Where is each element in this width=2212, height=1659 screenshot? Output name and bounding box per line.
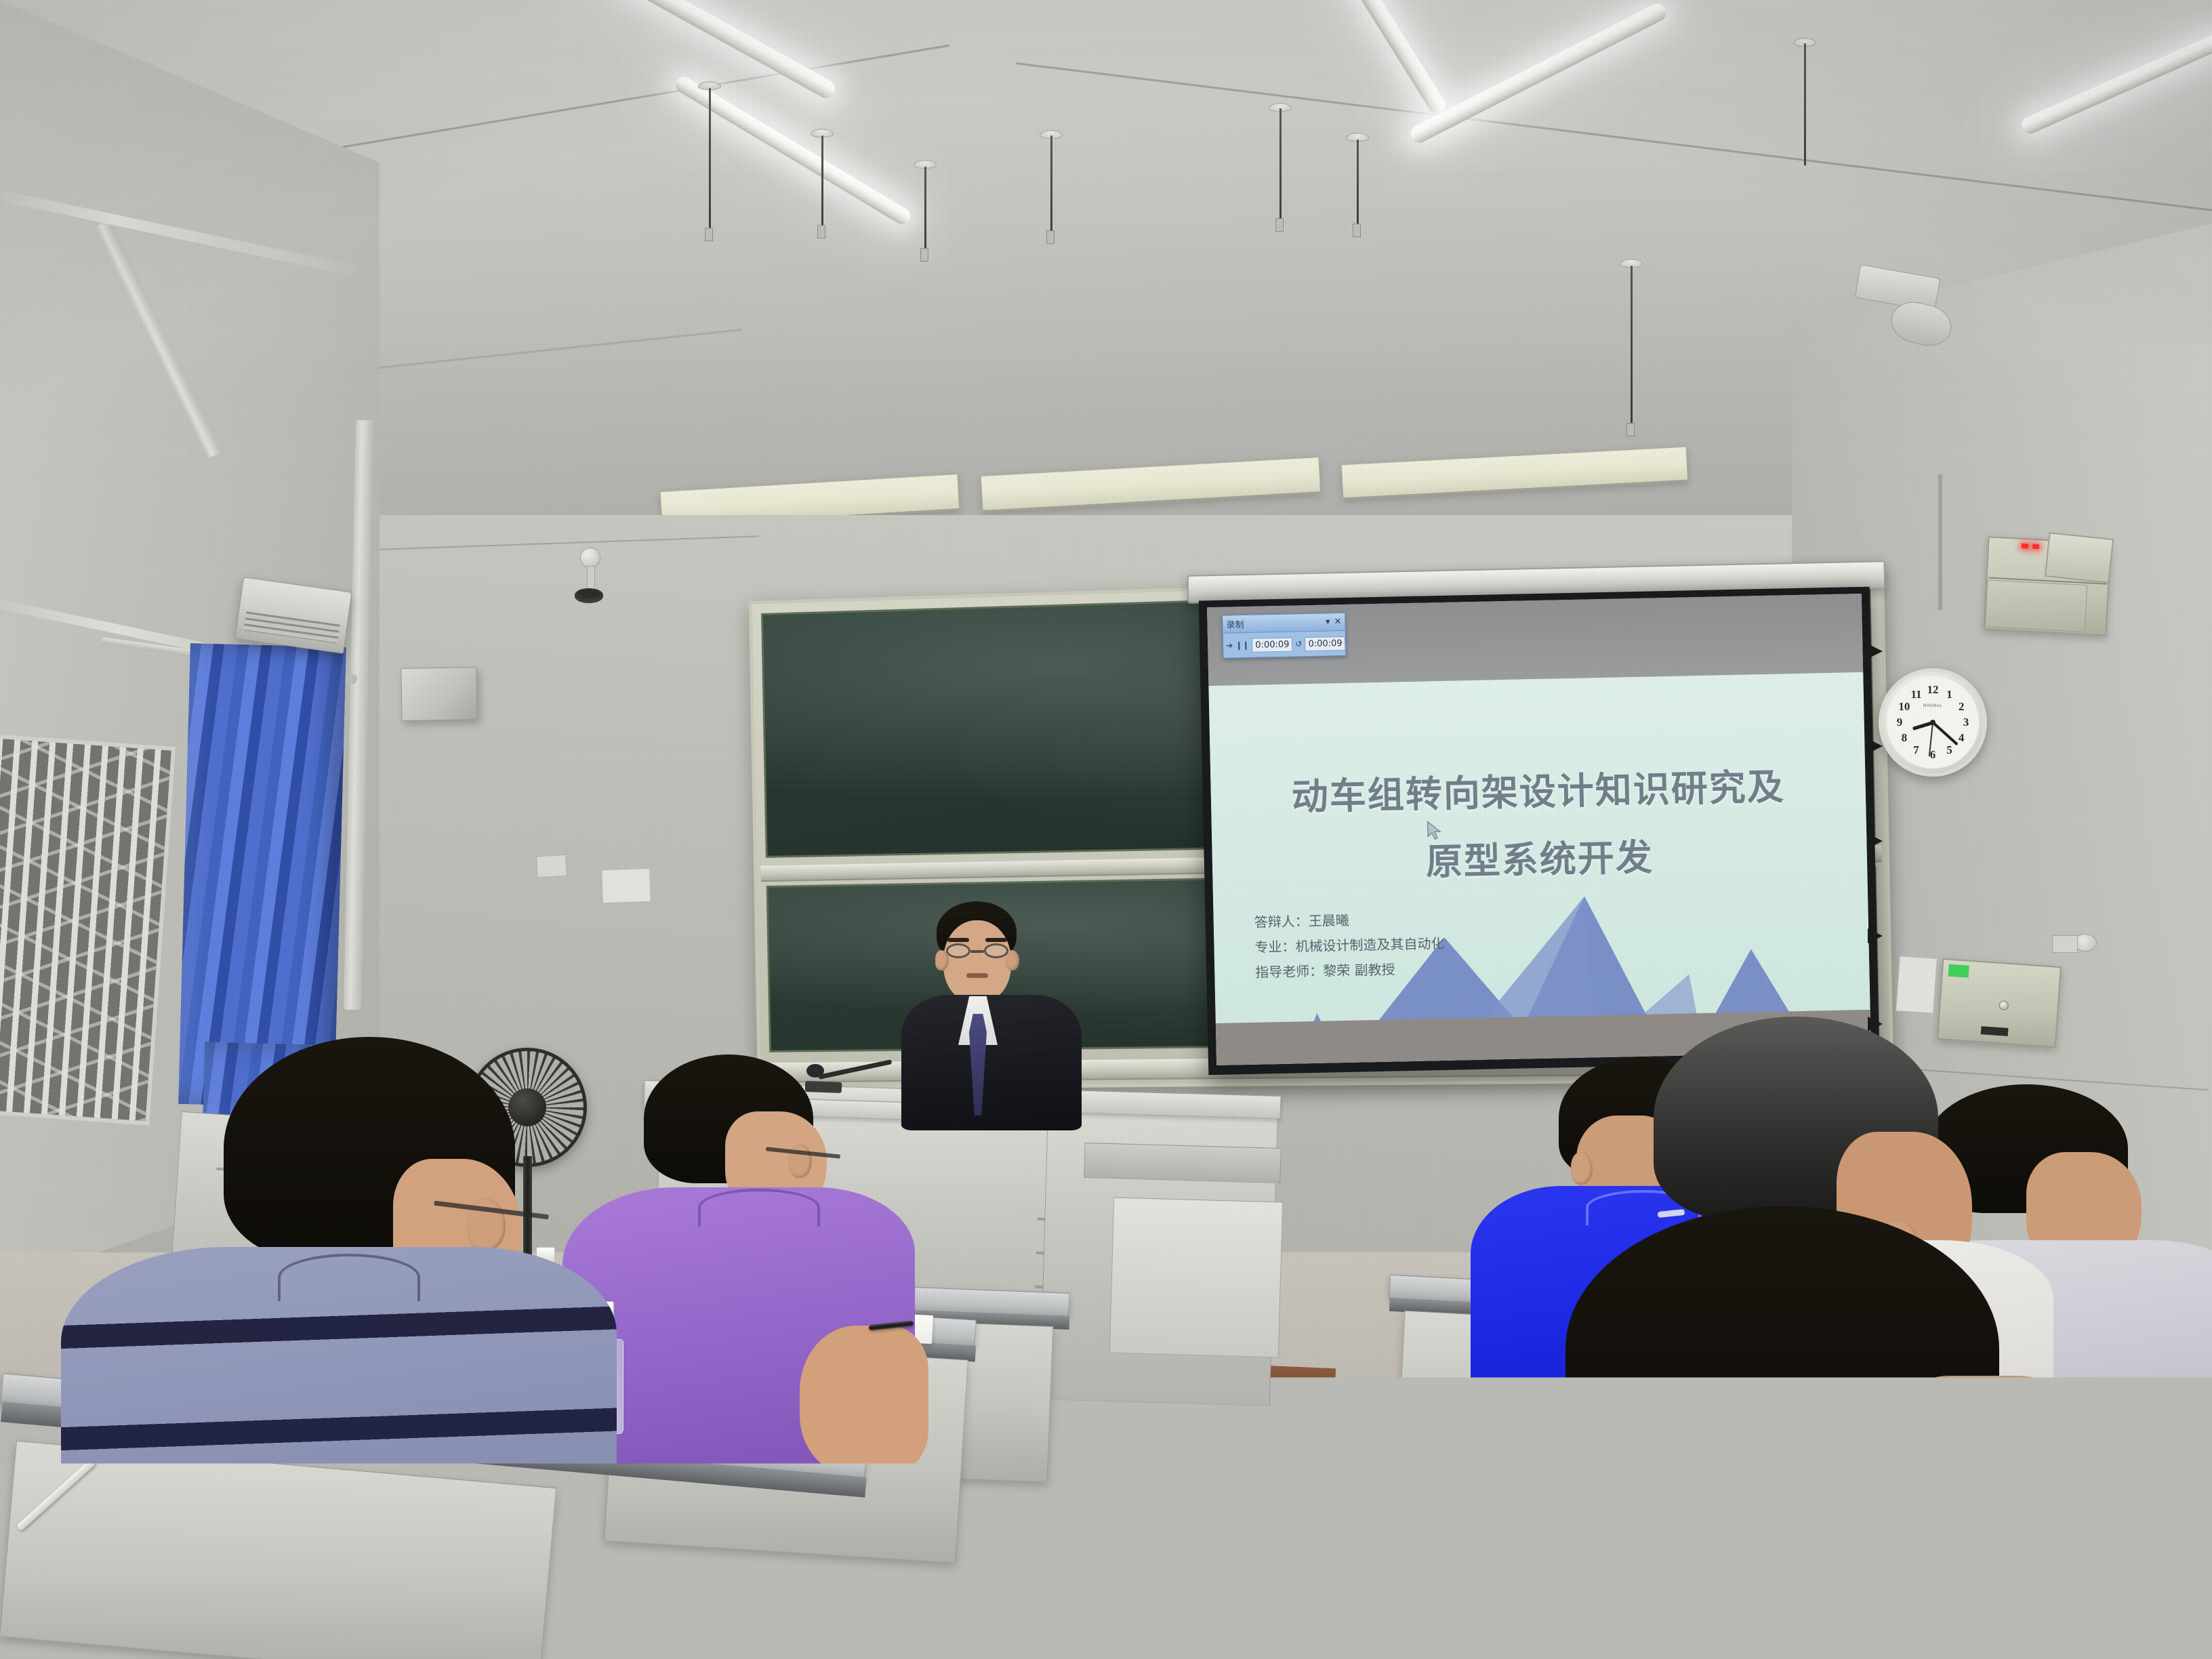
rod-clamp bbox=[1275, 218, 1284, 232]
rod-clamp bbox=[1626, 423, 1635, 436]
forearm bbox=[800, 1326, 928, 1475]
clock-minute-hand bbox=[1932, 721, 1959, 745]
audience-hand-holding-pen bbox=[0, 1511, 163, 1659]
green-inspection-tag bbox=[1948, 964, 1969, 978]
hanging-rod bbox=[1631, 266, 1633, 428]
projection-screen: 录制 ▾ ✕ ➔ ❙❙ 0:00:09 ↺ 0:00:09 动车组转向架设计知识… bbox=[1199, 587, 1879, 1076]
clock-num-11: 11 bbox=[1910, 688, 1921, 701]
wall-notice bbox=[536, 855, 567, 878]
hanging-rod bbox=[1804, 43, 1806, 165]
screen-right-edge-tabs bbox=[1868, 630, 1883, 1050]
classroom-photo: 录制 ▾ ✕ ➔ ❙❙ 0:00:09 ↺ 0:00:09 动车组转向架设计知识… bbox=[0, 0, 2212, 1659]
audience-member-purple-polo bbox=[596, 1054, 881, 1461]
slide-meta-block: 答辩人：王晨曦 专业：机械设计制造及其自动化 指导老师：黎荣 副教授 bbox=[1254, 906, 1445, 985]
timer-title-label: 录制 bbox=[1226, 617, 1244, 631]
repeat-icon[interactable]: ↺ bbox=[1295, 639, 1302, 649]
presenter-eyebrow-left bbox=[947, 938, 969, 942]
timer-titlebar: 录制 ▾ ✕ bbox=[1223, 613, 1345, 634]
hanging-rod bbox=[1050, 136, 1052, 236]
minimize-icon[interactable]: ▾ bbox=[1326, 617, 1330, 627]
rod-clamp bbox=[1353, 224, 1361, 237]
next-slide-icon[interactable]: ➔ bbox=[1226, 640, 1233, 650]
presenter-glasses-bridge bbox=[970, 950, 984, 953]
hanging-rod bbox=[1279, 108, 1282, 224]
projected-image: 录制 ▾ ✕ ➔ ❙❙ 0:00:09 ↺ 0:00:09 动车组转向架设计知识… bbox=[1207, 594, 1871, 1065]
rod-clamp bbox=[705, 228, 713, 241]
camera-mount bbox=[580, 548, 600, 568]
surveillance-camera bbox=[575, 588, 603, 603]
clock-num-4: 4 bbox=[1959, 731, 1965, 745]
total-elapsed-field[interactable]: 0:00:09 bbox=[1305, 636, 1346, 651]
timer-controls: ➔ ❙❙ 0:00:09 ↺ 0:00:09 bbox=[1223, 631, 1346, 658]
slide-title-line-1: 动车组转向架设计知识研究及 bbox=[1210, 755, 1866, 822]
clock-num-6: 6 bbox=[1930, 748, 1936, 762]
clock-num-8: 8 bbox=[1902, 731, 1908, 745]
panel-label bbox=[1981, 1026, 2009, 1036]
hanging-rod bbox=[821, 136, 823, 230]
slide-meta-advisor: 指导老师：黎荣 副教授 bbox=[1255, 956, 1446, 985]
pause-icon[interactable]: ❙❙ bbox=[1235, 640, 1249, 650]
alarm-led-indicator bbox=[2022, 544, 2028, 549]
ear bbox=[1571, 1152, 1593, 1185]
wall-notice bbox=[601, 868, 651, 903]
hanging-rod bbox=[709, 88, 711, 230]
presenter-suit-jacket bbox=[901, 995, 1082, 1130]
clock-num-1: 1 bbox=[1946, 688, 1952, 701]
presenter bbox=[916, 901, 1065, 1125]
white-shirt-torso bbox=[1443, 1498, 2203, 1659]
clock-num-12: 12 bbox=[1927, 683, 1939, 697]
clock-num-2: 2 bbox=[1959, 700, 1965, 714]
wall-conduit bbox=[1938, 474, 1942, 610]
podium-drawer bbox=[1084, 1143, 1281, 1183]
wall-speaker-right bbox=[2045, 532, 2114, 583]
panel-lock-icon[interactable] bbox=[1999, 1000, 2009, 1010]
presenter-glasses-left-lens bbox=[946, 943, 970, 958]
alarm-led-indicator bbox=[2032, 544, 2039, 550]
clock-num-5: 5 bbox=[1946, 743, 1952, 757]
clock-num-9: 9 bbox=[1897, 716, 1903, 729]
rod-clamp bbox=[1046, 230, 1054, 244]
polo-collar bbox=[278, 1254, 420, 1301]
hanging-rod bbox=[924, 167, 926, 252]
clock-num-7: 7 bbox=[1913, 743, 1919, 757]
wall-info-card bbox=[1896, 956, 1938, 1014]
clock-num-10: 10 bbox=[1898, 700, 1910, 714]
rod-clamp bbox=[920, 248, 928, 262]
podium-equipment-bay bbox=[1109, 1197, 1283, 1358]
clock-center-pin bbox=[1930, 720, 1935, 725]
clock-face: MINIMAL 12 1 2 3 4 5 6 7 8 9 10 11 bbox=[1887, 676, 1979, 769]
slide-surface: 动车组转向架设计知识研究及 原型系统开发 bbox=[1208, 672, 1871, 1065]
presenter-head bbox=[943, 920, 1011, 1003]
ac-vent bbox=[243, 611, 340, 644]
clock-num-3: 3 bbox=[1963, 716, 1969, 729]
slide-meta-major: 专业：机械设计制造及其自动化 bbox=[1254, 931, 1445, 960]
close-icon[interactable]: ✕ bbox=[1334, 617, 1341, 627]
wall-speaker bbox=[401, 667, 477, 721]
slide-elapsed-field[interactable]: 0:00:09 bbox=[1252, 637, 1293, 652]
rod-clamp bbox=[817, 225, 825, 239]
presenter-glasses-right-lens bbox=[984, 943, 1008, 958]
hanging-rod bbox=[1357, 140, 1359, 228]
slide-meta-presenter: 答辩人：王晨曦 bbox=[1254, 906, 1444, 935]
presenter-eyebrow-right bbox=[985, 938, 1007, 942]
backpack-under-desk bbox=[790, 1511, 960, 1659]
wall-clock: MINIMAL 12 1 2 3 4 5 6 7 8 9 10 11 bbox=[1879, 668, 1987, 777]
presenter-mouth bbox=[966, 973, 988, 978]
wall-outlet bbox=[2052, 935, 2078, 953]
audience-member-white-shirt-foreground bbox=[1484, 1206, 2212, 1659]
rehearsal-timer-toolbar[interactable]: 录制 ▾ ✕ ➔ ❙❙ 0:00:09 ↺ 0:00:09 bbox=[1222, 613, 1346, 659]
polo-collar bbox=[698, 1189, 820, 1227]
